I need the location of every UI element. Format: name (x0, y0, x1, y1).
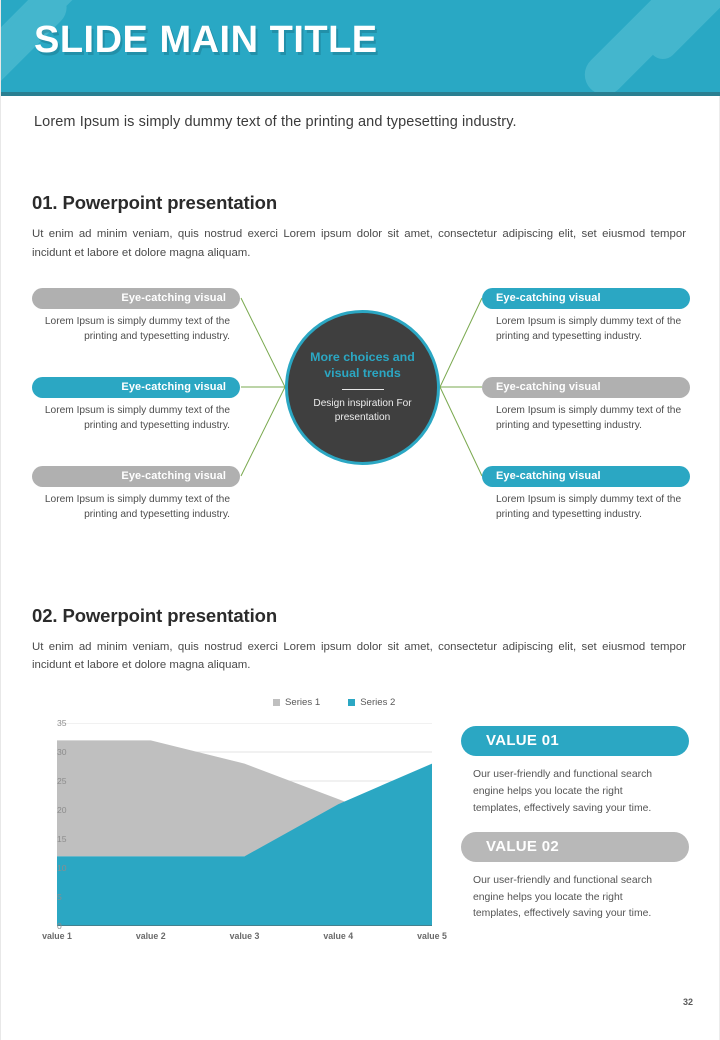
section-01-heading: 01. Powerpoint presentation (32, 192, 719, 214)
diagram-node-body-right-3: Lorem Ipsum is simply dummy text of the … (482, 492, 690, 524)
chart-x-axis-label: value 1 (42, 931, 72, 941)
legend-item-2[interactable]: Series 2 (348, 697, 395, 708)
section-02-body: Ut enim ad minim veniam, quis nostrud ex… (32, 638, 686, 676)
chart-svg (57, 723, 432, 926)
value-card: VALUE 02 Our user-friendly and functiona… (461, 832, 689, 923)
page-title: SLIDE MAIN TITLE (34, 19, 378, 62)
value-card-body-1: Our user-friendly and functional search … (473, 767, 673, 817)
hub-divider (342, 389, 384, 390)
diagram-node-label-left-1[interactable]: Eye-catching visual (32, 288, 240, 309)
diagram-node-body-left-3: Lorem Ipsum is simply dummy text of the … (32, 492, 240, 524)
chart-plot-area: value 1value 2value 3value 4value 5 (57, 723, 432, 926)
value-card-body-2: Our user-friendly and functional search … (473, 873, 673, 923)
legend-label: Series 2 (360, 697, 395, 708)
diagram-node-label-right-1[interactable]: Eye-catching visual (482, 288, 690, 309)
diagram-node-body-left-1: Lorem Ipsum is simply dummy text of the … (32, 314, 240, 346)
legend-item-1[interactable]: Series 1 (273, 697, 320, 708)
legend-swatch-icon (273, 699, 280, 706)
page-number: 32 (683, 997, 693, 1007)
hub-subtitle: Design inspiration For presentation (307, 397, 419, 425)
diagram-node-body-left-2: Lorem Ipsum is simply dummy text of the … (32, 403, 240, 435)
chart-x-axis-label: value 4 (323, 931, 353, 941)
section-01-body: Ut enim ad minim veniam, quis nostrud ex… (32, 225, 686, 263)
value-card: VALUE 01 Our user-friendly and functiona… (461, 726, 689, 817)
chart-x-axis-label: value 5 (417, 931, 447, 941)
value-card-title-2[interactable]: VALUE 02 (461, 832, 689, 862)
diagram-center-hub[interactable]: More choices and visual trends Design in… (285, 310, 440, 465)
slide-subtitle: Lorem Ipsum is simply dummy text of the … (34, 114, 719, 130)
value-cards-list: VALUE 01 Our user-friendly and functiona… (461, 726, 689, 923)
section-01: 01. Powerpoint presentation Ut enim ad m… (1, 192, 719, 549)
slide-header: SLIDE MAIN TITLE (1, 0, 720, 92)
header-underline-divider (1, 92, 720, 96)
value-card-title-1[interactable]: VALUE 01 (461, 726, 689, 756)
hub-and-spoke-diagram: Eye-catching visual Lorem Ipsum is simpl… (1, 284, 720, 549)
diagram-node-label-right-3[interactable]: Eye-catching visual (482, 466, 690, 487)
chart-and-values-block: Series 1Series 2 value 1value 2value 3va… (1, 697, 719, 957)
legend-label: Series 1 (285, 697, 320, 708)
area-chart[interactable]: value 1value 2value 3value 4value 5 0510… (32, 723, 432, 955)
section-02: 02. Powerpoint presentation Ut enim ad m… (1, 605, 719, 958)
chart-x-axis-label: value 3 (230, 931, 260, 941)
hub-title: More choices and visual trends (304, 349, 422, 381)
legend-swatch-icon (348, 699, 355, 706)
diagram-node-label-left-3[interactable]: Eye-catching visual (32, 466, 240, 487)
section-02-heading: 02. Powerpoint presentation (32, 605, 719, 627)
diagram-node-body-right-2: Lorem Ipsum is simply dummy text of the … (482, 403, 690, 435)
diagram-node-body-right-1: Lorem Ipsum is simply dummy text of the … (482, 314, 690, 346)
slide-canvas: SLIDE MAIN TITLE Lorem Ipsum is simply d… (0, 0, 720, 1040)
diagram-node-label-left-2[interactable]: Eye-catching visual (32, 377, 240, 398)
diagram-node-label-right-2[interactable]: Eye-catching visual (482, 377, 690, 398)
chart-legend: Series 1Series 2 (273, 697, 395, 708)
chart-x-axis-label: value 2 (136, 931, 166, 941)
